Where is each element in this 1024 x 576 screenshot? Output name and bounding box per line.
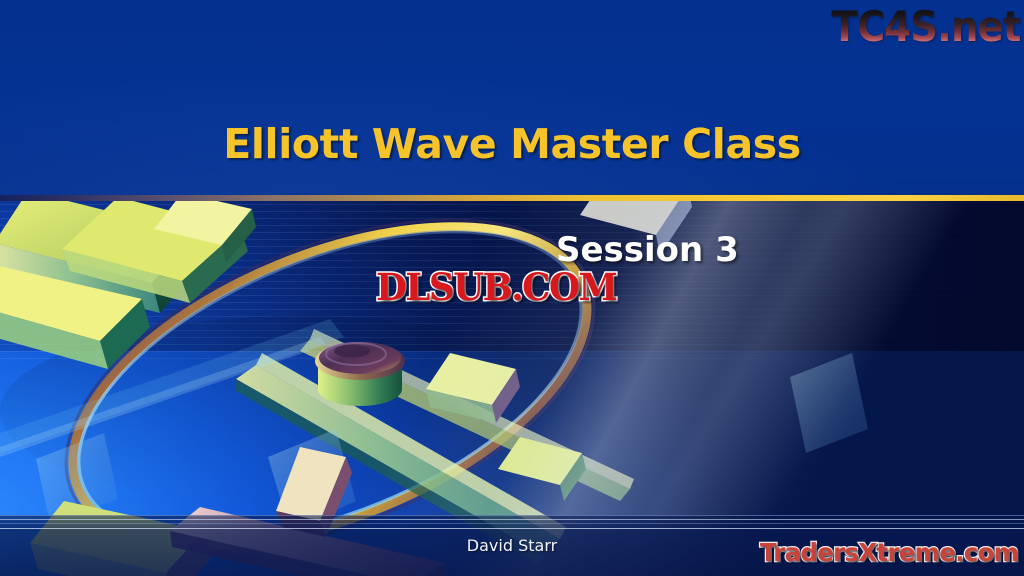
presentation-slide: Elliott Wave Master Class	[0, 0, 1024, 576]
session-label: Session 3	[556, 230, 739, 270]
center-disc-hub	[315, 342, 405, 406]
floor-line-2	[0, 519, 1024, 520]
floor-line-4	[0, 528, 1024, 529]
floor-line-1	[0, 515, 1024, 516]
tc4s-watermark: TC4S.net	[831, 2, 1020, 51]
slide-artwork-stage	[0, 201, 1024, 576]
page-title: Elliott Wave Master Class	[0, 120, 1024, 168]
dlsub-watermark: DLSUB.COM	[376, 265, 616, 309]
floor-line-3	[0, 523, 1024, 524]
tradersxtreme-logo: TradersXtreme.com	[760, 538, 1018, 567]
